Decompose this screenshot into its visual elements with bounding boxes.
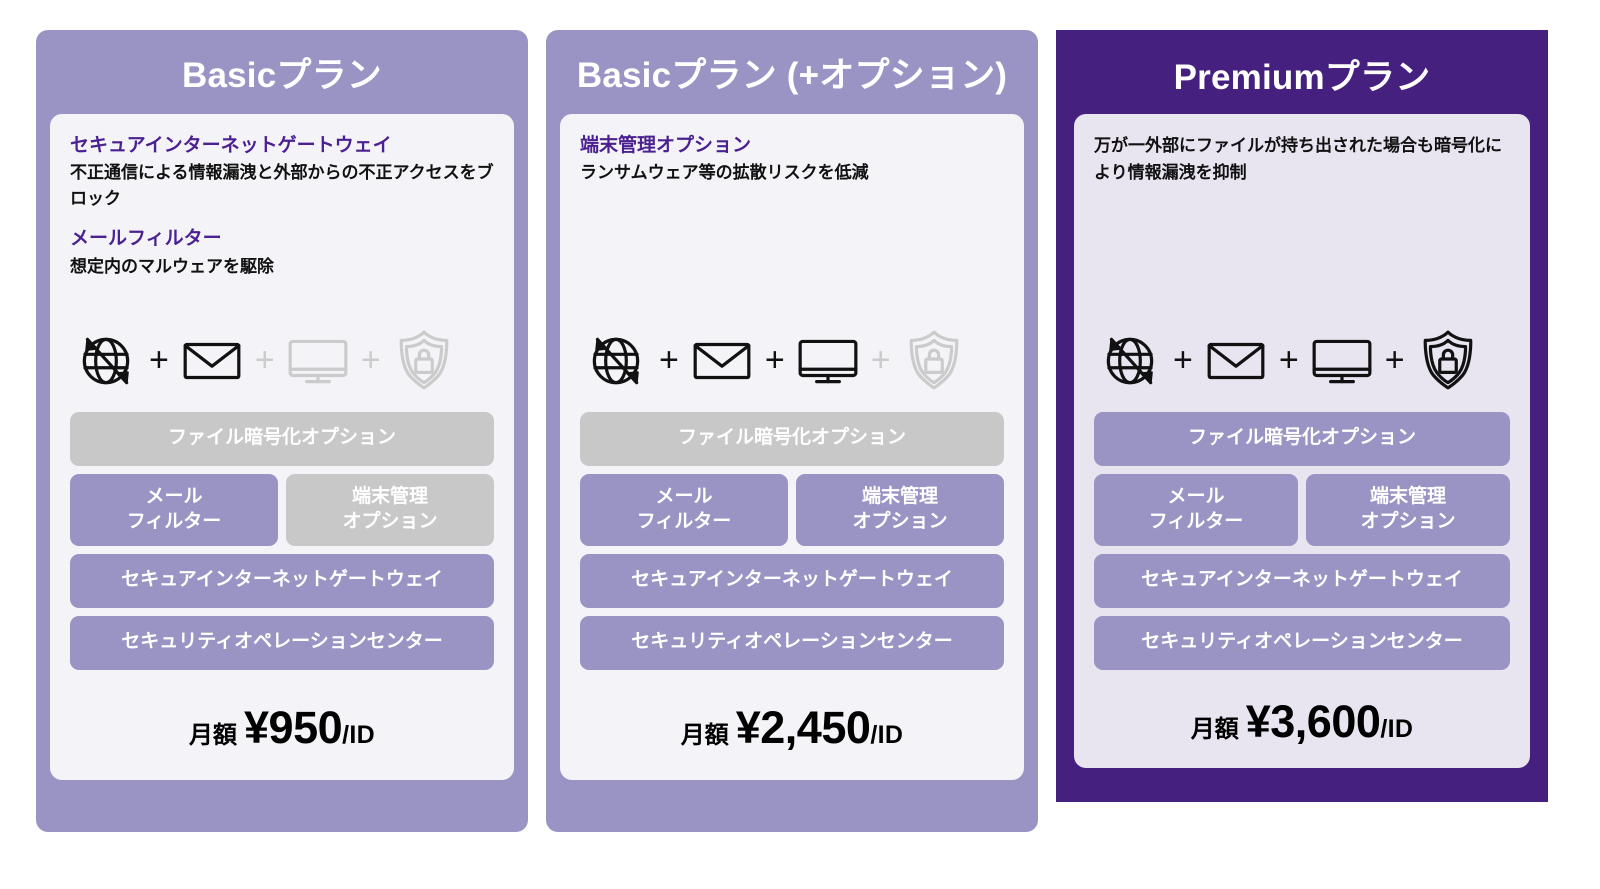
plan-panel-basic-option: 端末管理オプションランサムウェア等の拡散リスクを低減+++ファイル暗号化オプショ… bbox=[560, 114, 1024, 780]
plan-title-basic: Basicプラン bbox=[182, 44, 382, 114]
bar-secure-gateway[interactable]: セキュアインターネットゲートウェイ bbox=[580, 554, 1004, 608]
plan-panel-basic: セキュアインターネットゲートウェイ不正通信による情報漏洩と外部からの不正アクセス… bbox=[50, 114, 514, 780]
bar-secure-gateway[interactable]: セキュアインターネットゲートウェイ bbox=[1094, 554, 1510, 608]
price-unit: /ID bbox=[342, 721, 375, 750]
shield-lock-icon bbox=[898, 324, 970, 396]
price-basic: 月額¥950/ID bbox=[189, 702, 375, 754]
bar-label: 端末管理 オプション bbox=[852, 485, 947, 534]
icon-row-basic-option: +++ bbox=[580, 312, 1004, 408]
feature-notes-premium: 万が一外部にファイルが持ち出された場合も暗号化により情報漏洩を抑制 bbox=[1094, 132, 1510, 310]
price-premium: 月額¥3,600/ID bbox=[1191, 696, 1414, 748]
bar-label: 端末管理 オプション bbox=[1360, 485, 1455, 534]
feature-title: セキュアインターネットゲートウェイ bbox=[70, 132, 494, 160]
icon-row-basic: +++ bbox=[70, 312, 494, 408]
plan-title-premium: Premiumプラン bbox=[1174, 44, 1431, 114]
mail-icon bbox=[686, 324, 758, 396]
bar-encryption[interactable]: ファイル暗号化オプション bbox=[580, 412, 1004, 466]
price-unit: /ID bbox=[870, 721, 903, 750]
bar-mail-filter[interactable]: メール フィルター bbox=[70, 474, 278, 546]
plus-icon: + bbox=[656, 343, 682, 377]
feature-bars-basic-option: ファイル暗号化オプションメール フィルター端末管理 オプションセキュアインターネ… bbox=[580, 412, 1004, 676]
price-unit: /ID bbox=[1380, 715, 1413, 744]
feature-title: 端末管理オプション bbox=[580, 132, 1004, 160]
bar-encryption[interactable]: ファイル暗号化オプション bbox=[70, 412, 494, 466]
globe-icon bbox=[1094, 324, 1166, 396]
plan-card-basic-option: Basicプラン (+オプション)端末管理オプションランサムウェア等の拡散リスク… bbox=[546, 30, 1038, 832]
price-prefix: 月額 bbox=[1191, 709, 1239, 744]
price-prefix: 月額 bbox=[681, 715, 729, 750]
bar-label: メール フィルター bbox=[637, 485, 732, 534]
bar-label: 端末管理 オプション bbox=[342, 485, 437, 534]
feature-description: ランサムウェア等の拡散リスクを低減 bbox=[580, 160, 1004, 186]
plus-icon: + bbox=[146, 343, 172, 377]
monitor-icon bbox=[1306, 324, 1378, 396]
feature-description: 不正通信による情報漏洩と外部からの不正アクセスをブロック bbox=[70, 160, 494, 211]
plan-panel-premium: 万が一外部にファイルが持ち出された場合も暗号化により情報漏洩を抑制+++ファイル… bbox=[1074, 114, 1530, 768]
bar-row-split: メール フィルター端末管理 オプション bbox=[70, 474, 494, 546]
monitor-icon bbox=[792, 324, 864, 396]
price-prefix: 月額 bbox=[189, 715, 237, 750]
bar-label: メール フィルター bbox=[127, 485, 222, 534]
plan-title-basic-option: Basicプラン (+オプション) bbox=[577, 44, 1007, 114]
bar-secure-gateway[interactable]: セキュアインターネットゲートウェイ bbox=[70, 554, 494, 608]
plan-card-premium: Premiumプラン万が一外部にファイルが持ち出された場合も暗号化により情報漏洩… bbox=[1056, 30, 1548, 802]
mail-icon bbox=[176, 324, 248, 396]
globe-icon bbox=[580, 324, 652, 396]
price-amount: ¥950 bbox=[244, 702, 342, 754]
plan-card-basic: Basicプランセキュアインターネットゲートウェイ不正通信による情報漏洩と外部か… bbox=[36, 30, 528, 832]
plus-icon: + bbox=[1382, 343, 1408, 377]
shield-lock-icon bbox=[388, 324, 460, 396]
price-area-premium: 月額¥3,600/ID bbox=[1094, 676, 1510, 768]
feature-description: 万が一外部にファイルが持ち出された場合も暗号化により情報漏洩を抑制 bbox=[1094, 132, 1510, 187]
mail-icon bbox=[1200, 324, 1272, 396]
price-basic-option: 月額¥2,450/ID bbox=[681, 702, 904, 754]
price-amount: ¥3,600 bbox=[1246, 696, 1381, 748]
plus-icon: + bbox=[868, 343, 894, 377]
bar-mail-filter[interactable]: メール フィルター bbox=[1094, 474, 1298, 546]
shield-lock-icon bbox=[1412, 324, 1484, 396]
bar-device-management[interactable]: 端末管理 オプション bbox=[796, 474, 1004, 546]
feature-bars-basic: ファイル暗号化オプションメール フィルター端末管理 オプションセキュアインターネ… bbox=[70, 412, 494, 676]
price-area-basic-option: 月額¥2,450/ID bbox=[580, 676, 1004, 780]
bar-device-management[interactable]: 端末管理 オプション bbox=[286, 474, 494, 546]
bar-row-split: メール フィルター端末管理 オプション bbox=[580, 474, 1004, 546]
price-area-basic: 月額¥950/ID bbox=[70, 676, 494, 780]
bar-encryption[interactable]: ファイル暗号化オプション bbox=[1094, 412, 1510, 466]
feature-notes-basic-option: 端末管理オプションランサムウェア等の拡散リスクを低減 bbox=[580, 132, 1004, 310]
globe-icon bbox=[70, 324, 142, 396]
feature-bars-premium: ファイル暗号化オプションメール フィルター端末管理 オプションセキュアインターネ… bbox=[1094, 412, 1510, 676]
price-amount: ¥2,450 bbox=[736, 702, 871, 754]
plus-icon: + bbox=[358, 343, 384, 377]
feature-title: メールフィルター bbox=[70, 225, 494, 253]
icon-row-premium: +++ bbox=[1094, 312, 1510, 408]
plus-icon: + bbox=[762, 343, 788, 377]
plan-comparison-board: Basicプランセキュアインターネットゲートウェイ不正通信による情報漏洩と外部か… bbox=[0, 0, 1600, 889]
bar-security-operations-center[interactable]: セキュリティオペレーションセンター bbox=[1094, 616, 1510, 670]
bar-mail-filter[interactable]: メール フィルター bbox=[580, 474, 788, 546]
feature-notes-basic: セキュアインターネットゲートウェイ不正通信による情報漏洩と外部からの不正アクセス… bbox=[70, 132, 494, 310]
bar-device-management[interactable]: 端末管理 オプション bbox=[1306, 474, 1510, 546]
plus-icon: + bbox=[252, 343, 278, 377]
plus-icon: + bbox=[1276, 343, 1302, 377]
monitor-icon bbox=[282, 324, 354, 396]
bar-label: メール フィルター bbox=[1149, 485, 1244, 534]
bar-security-operations-center[interactable]: セキュリティオペレーションセンター bbox=[70, 616, 494, 670]
bar-row-split: メール フィルター端末管理 オプション bbox=[1094, 474, 1510, 546]
bar-security-operations-center[interactable]: セキュリティオペレーションセンター bbox=[580, 616, 1004, 670]
feature-description: 想定内のマルウェアを駆除 bbox=[70, 254, 494, 280]
plus-icon: + bbox=[1170, 343, 1196, 377]
